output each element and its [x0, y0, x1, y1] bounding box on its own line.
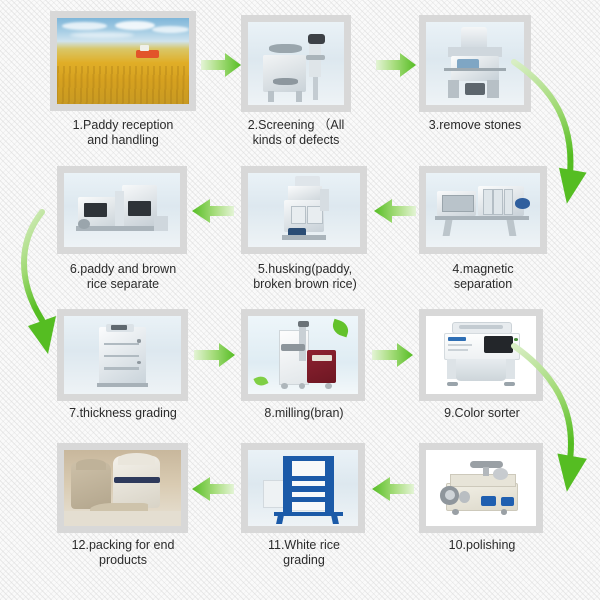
step-caption-7: 7.thickness grading — [48, 406, 198, 421]
step-caption-10: 10.polishing — [416, 538, 548, 553]
leaf-icon — [253, 374, 268, 388]
husker-machine-photo — [248, 173, 360, 247]
arrow-7-to-8 — [194, 342, 235, 368]
step-card-11[interactable] — [241, 443, 365, 533]
step-card-12[interactable] — [57, 443, 188, 533]
step-caption-12: 12.packing for end products — [46, 538, 200, 568]
harvester-icon — [136, 50, 158, 59]
thickness-grader-photo — [64, 316, 181, 394]
step-caption-1: 1.Paddy reception and handling — [46, 118, 200, 148]
packing-bags-photo — [64, 450, 181, 526]
white-rice-grader-photo — [248, 450, 358, 526]
step-caption-11: 11.White rice grading — [240, 538, 368, 568]
arrow-11-to-12 — [192, 476, 234, 502]
arrow-5-to-6 — [192, 198, 234, 224]
process-flow-diagram: 1.Paddy reception and handling 2.Screeni… — [0, 0, 600, 600]
step-card-5[interactable] — [241, 166, 367, 254]
magnetic-separator-photo — [426, 173, 540, 247]
arrow-2-to-3 — [376, 52, 416, 78]
step-caption-5: 5.husking(paddy, broken brown rice) — [233, 262, 377, 292]
arrow-8-to-9 — [372, 342, 413, 368]
step-card-10[interactable] — [419, 443, 543, 533]
screening-machine-photo — [248, 22, 344, 105]
step-card-4[interactable] — [419, 166, 547, 254]
step-card-2[interactable] — [241, 15, 351, 112]
arrow-4-to-5 — [374, 198, 416, 224]
rice-mill-machine-photo — [248, 316, 358, 394]
paddy-field-photo — [57, 18, 189, 104]
step-card-1[interactable] — [50, 11, 196, 111]
step-card-7[interactable] — [57, 309, 188, 401]
step-caption-8: 8.milling(bran) — [236, 406, 372, 421]
arrow-1-to-2 — [201, 52, 241, 78]
step-card-8[interactable] — [241, 309, 365, 401]
arrow-10-to-11 — [372, 476, 414, 502]
step-caption-4: 4.magnetic separation — [415, 262, 551, 292]
step-caption-2: 2.Screening （All kinds of defects — [228, 118, 364, 148]
polisher-machine-photo — [426, 450, 536, 526]
leaf-icon — [330, 319, 350, 337]
